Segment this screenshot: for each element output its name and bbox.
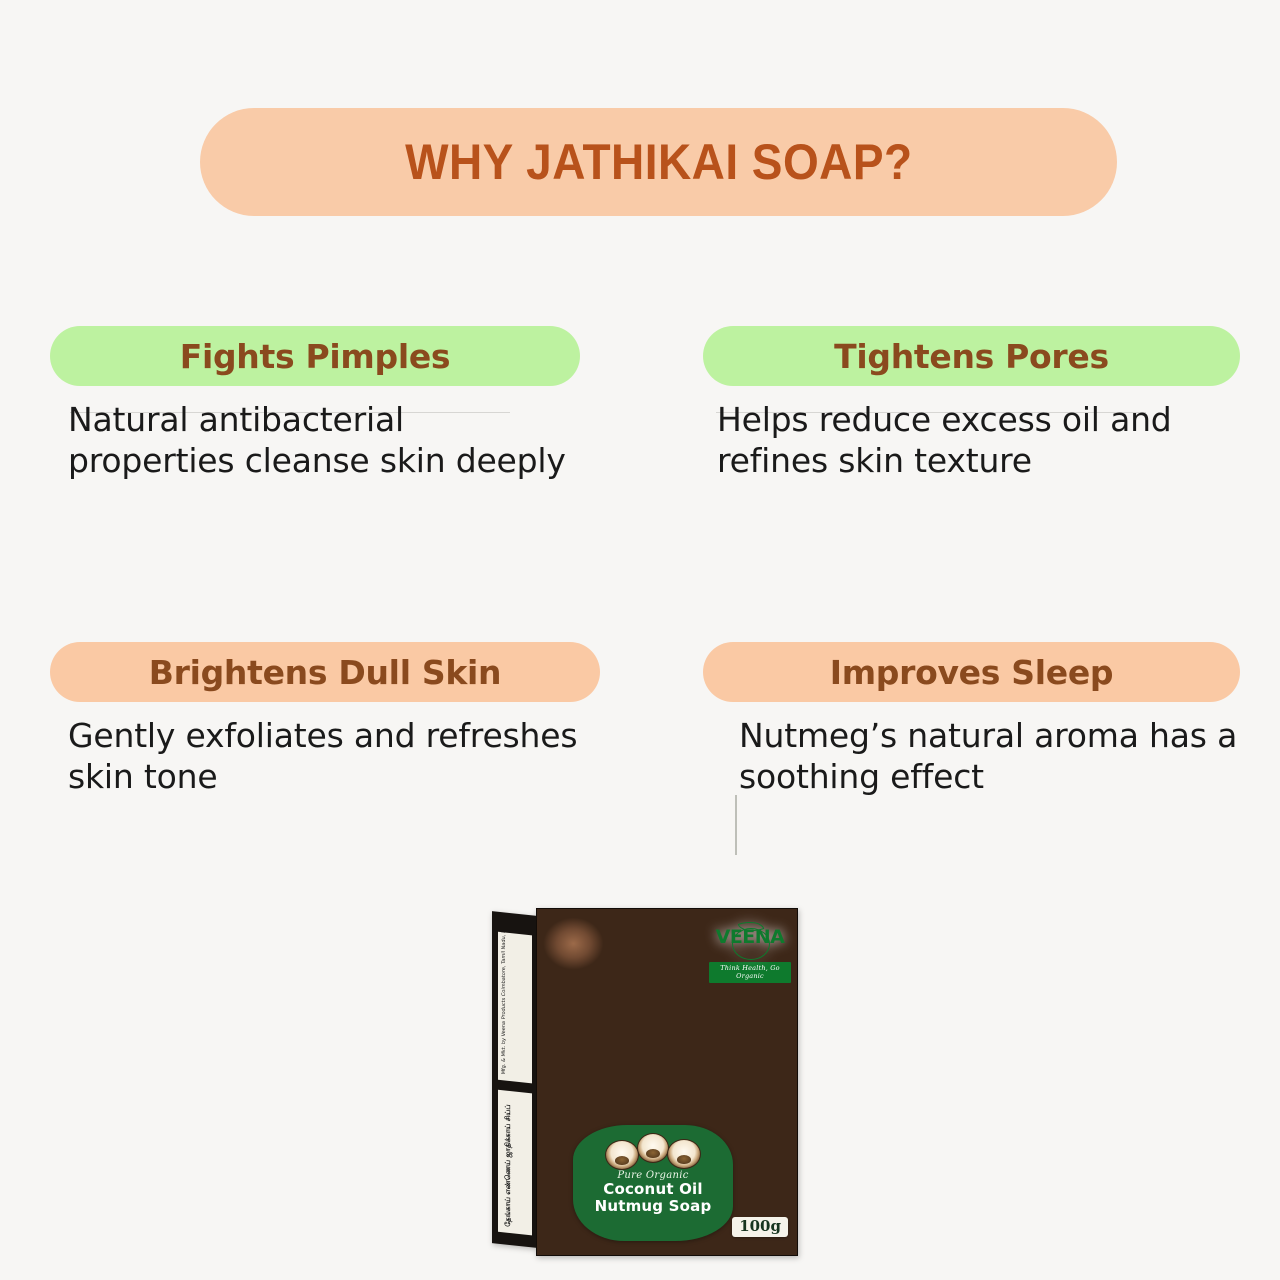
benefit-description: Helps reduce excess oil and refines skin…	[703, 400, 1240, 482]
benefit-label: Fights Pimples	[180, 337, 451, 376]
benefit-description: Natural antibacterial properties cleanse…	[50, 400, 580, 482]
product-box-side-panel: Mfg. & Mkt. by Veena Products Coimbatore…	[492, 911, 538, 1248]
coconut-icon	[667, 1139, 701, 1169]
coconut-icon	[605, 1140, 639, 1170]
side-panel-regional-block: தேங்காய் எண்ணெய் ஜாதிக்காய் சிய்ப்	[498, 1090, 532, 1236]
label-line-2: Nutmug Soap	[573, 1198, 733, 1215]
label-line-1: Coconut Oil	[573, 1181, 733, 1198]
benefit-label: Brightens Dull Skin	[149, 653, 501, 692]
benefit-label: Improves Sleep	[830, 653, 1114, 692]
brand-name: VEENA	[709, 928, 791, 947]
benefit-pill: Fights Pimples	[50, 326, 580, 386]
coconut-center	[677, 1155, 692, 1165]
infographic-page: WHY JATHIKAI SOAP? Fights Pimples Natura…	[0, 0, 1280, 1280]
coconut-icon	[637, 1133, 669, 1163]
product-front-label: Pure Organic Coconut Oil Nutmug Soap	[573, 1125, 733, 1241]
product-package-image: Mfg. & Mkt. by Veena Products Coimbatore…	[492, 908, 798, 1256]
benefit-pill: Tightens Pores	[703, 326, 1240, 386]
benefit-pill: Improves Sleep	[703, 642, 1240, 702]
coconut-center	[615, 1156, 630, 1166]
page-title: WHY JATHIKAI SOAP?	[405, 133, 913, 191]
benefit-description: Nutmeg’s natural aroma has a soothing ef…	[703, 716, 1240, 798]
benefit-card-improves-sleep: Improves Sleep Nutmeg’s natural aroma ha…	[703, 642, 1240, 798]
benefit-description: Gently exfoliates and refreshes skin ton…	[50, 716, 600, 798]
benefit-card-fights-pimples: Fights Pimples Natural antibacterial pro…	[50, 326, 580, 482]
brand-tagline: Think Health, Go Organic	[709, 962, 791, 983]
benefit-card-brightens-dull-skin: Brightens Dull Skin Gently exfoliates an…	[50, 642, 600, 798]
benefit-pill: Brightens Dull Skin	[50, 642, 600, 702]
leaf-circle-icon: VEENA	[709, 919, 791, 961]
product-box: Mfg. & Mkt. by Veena Products Coimbatore…	[492, 908, 798, 1256]
net-weight-badge: 100g	[732, 1217, 788, 1237]
product-box-front: VEENA Think Health, Go Organic Pure Orga…	[536, 908, 798, 1256]
coconut-center	[646, 1149, 660, 1159]
page-title-pill: WHY JATHIKAI SOAP?	[200, 108, 1117, 216]
coconut-illustration	[601, 1133, 705, 1169]
scan-artifact-mark	[735, 795, 737, 855]
side-panel-info-block: Mfg. & Mkt. by Veena Products Coimbatore…	[498, 932, 532, 1084]
side-panel-top-text: Mfg. & Mkt. by Veena Products Coimbatore…	[501, 932, 509, 1075]
benefit-card-tightens-pores: Tightens Pores Helps reduce excess oil a…	[703, 326, 1240, 482]
benefit-label: Tightens Pores	[834, 337, 1109, 376]
side-panel-bottom-text: தேங்காய் எண்ணெய் ஜாதிக்காய் சிய்ப்	[503, 1090, 514, 1227]
brand-logo: VEENA Think Health, Go Organic	[709, 919, 791, 983]
